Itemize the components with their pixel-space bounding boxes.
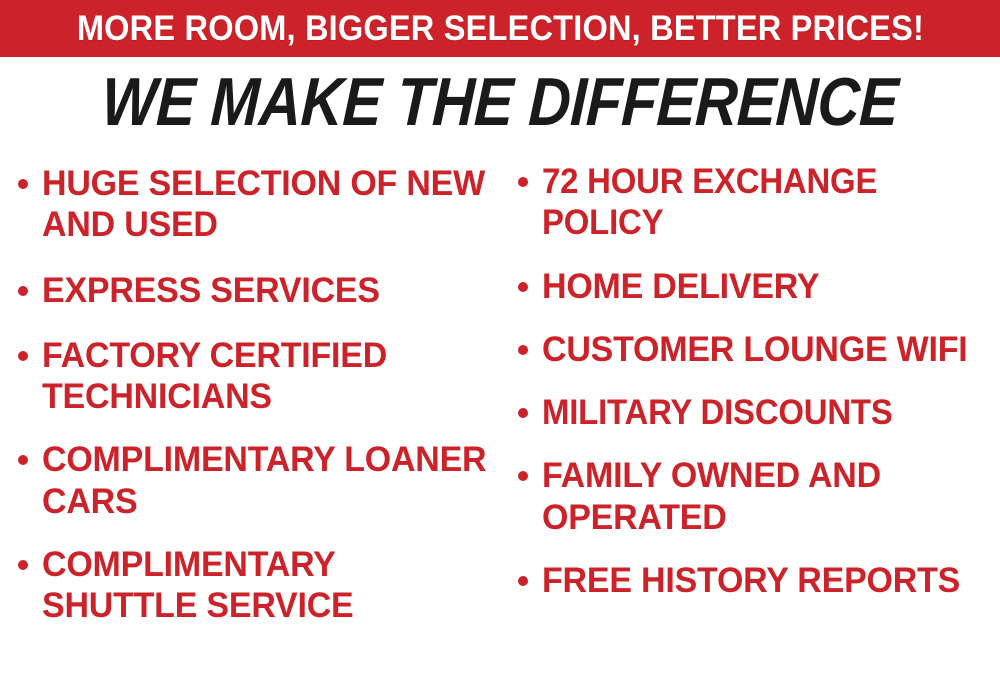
list-item: FAMILY OWNED AND OPERATED: [518, 455, 1000, 538]
bullet-dot-icon: [518, 282, 528, 292]
main-headline: WE MAKE THE DIFFERENCE: [0, 68, 1000, 136]
list-item-label: FAMILY OWNED AND OPERATED: [542, 455, 986, 538]
list-item-label: HUGE SELECTION OF NEW AND USED: [42, 163, 494, 246]
list-item: CUSTOMER LOUNGE WIFI: [518, 329, 1000, 370]
list-item-label: FACTORY CERTIFIED TECHNICIANS: [42, 335, 494, 418]
list-item-label: 72 HOUR EXCHANGE POLICY: [542, 161, 973, 244]
list-item: COMPLIMENTARY LOANER CARS: [18, 439, 508, 522]
list-item-label: CUSTOMER LOUNGE WIFI: [542, 329, 986, 370]
list-item-label: FREE HISTORY REPORTS: [542, 560, 986, 601]
promotional-poster: MORE ROOM, BIGGER SELECTION, BETTER PRIC…: [0, 0, 1000, 694]
list-item: EXPRESS SERVICES: [18, 270, 508, 311]
benefits-column-right: 72 HOUR EXCHANGE POLICY HOME DELIVERY CU…: [518, 155, 1000, 623]
banner-headline-text: MORE ROOM, BIGGER SELECTION, BETTER PRIC…: [76, 11, 923, 46]
list-item: HOME DELIVERY: [518, 266, 1000, 307]
benefits-columns: HUGE SELECTION OF NEW AND USED EXPRESS S…: [0, 155, 1000, 694]
list-item-label: COMPLIMENTARY LOANER CARS: [42, 439, 494, 522]
list-item: FACTORY CERTIFIED TECHNICIANS: [18, 335, 508, 418]
bullet-dot-icon: [18, 560, 28, 570]
bullet-dot-icon: [18, 351, 28, 361]
list-item: MILITARY DISCOUNTS: [518, 392, 1000, 433]
bullet-dot-icon: [518, 408, 528, 418]
benefits-column-left: HUGE SELECTION OF NEW AND USED EXPRESS S…: [18, 155, 508, 649]
list-item: FREE HISTORY REPORTS: [518, 560, 1000, 601]
list-item: 72 HOUR EXCHANGE POLICY: [518, 161, 1000, 244]
main-headline-text: WE MAKE THE DIFFERENCE: [100, 68, 899, 136]
list-item-label: MILITARY DISCOUNTS: [542, 392, 973, 433]
top-banner: MORE ROOM, BIGGER SELECTION, BETTER PRIC…: [0, 0, 1000, 57]
list-item-label: COMPLIMENTARY SHUTTLE SERVICE: [42, 544, 494, 627]
list-item-label: HOME DELIVERY: [542, 266, 986, 307]
bullet-dot-icon: [518, 471, 528, 481]
list-item: COMPLIMENTARY SHUTTLE SERVICE: [18, 544, 508, 627]
bullet-dot-icon: [518, 576, 528, 586]
bullet-dot-icon: [18, 179, 28, 189]
list-item: HUGE SELECTION OF NEW AND USED: [18, 163, 508, 246]
bullet-dot-icon: [18, 455, 28, 465]
bullet-dot-icon: [18, 286, 28, 296]
bullet-dot-icon: [518, 345, 528, 355]
bullet-dot-icon: [518, 177, 528, 187]
list-item-label: EXPRESS SERVICES: [42, 270, 494, 311]
